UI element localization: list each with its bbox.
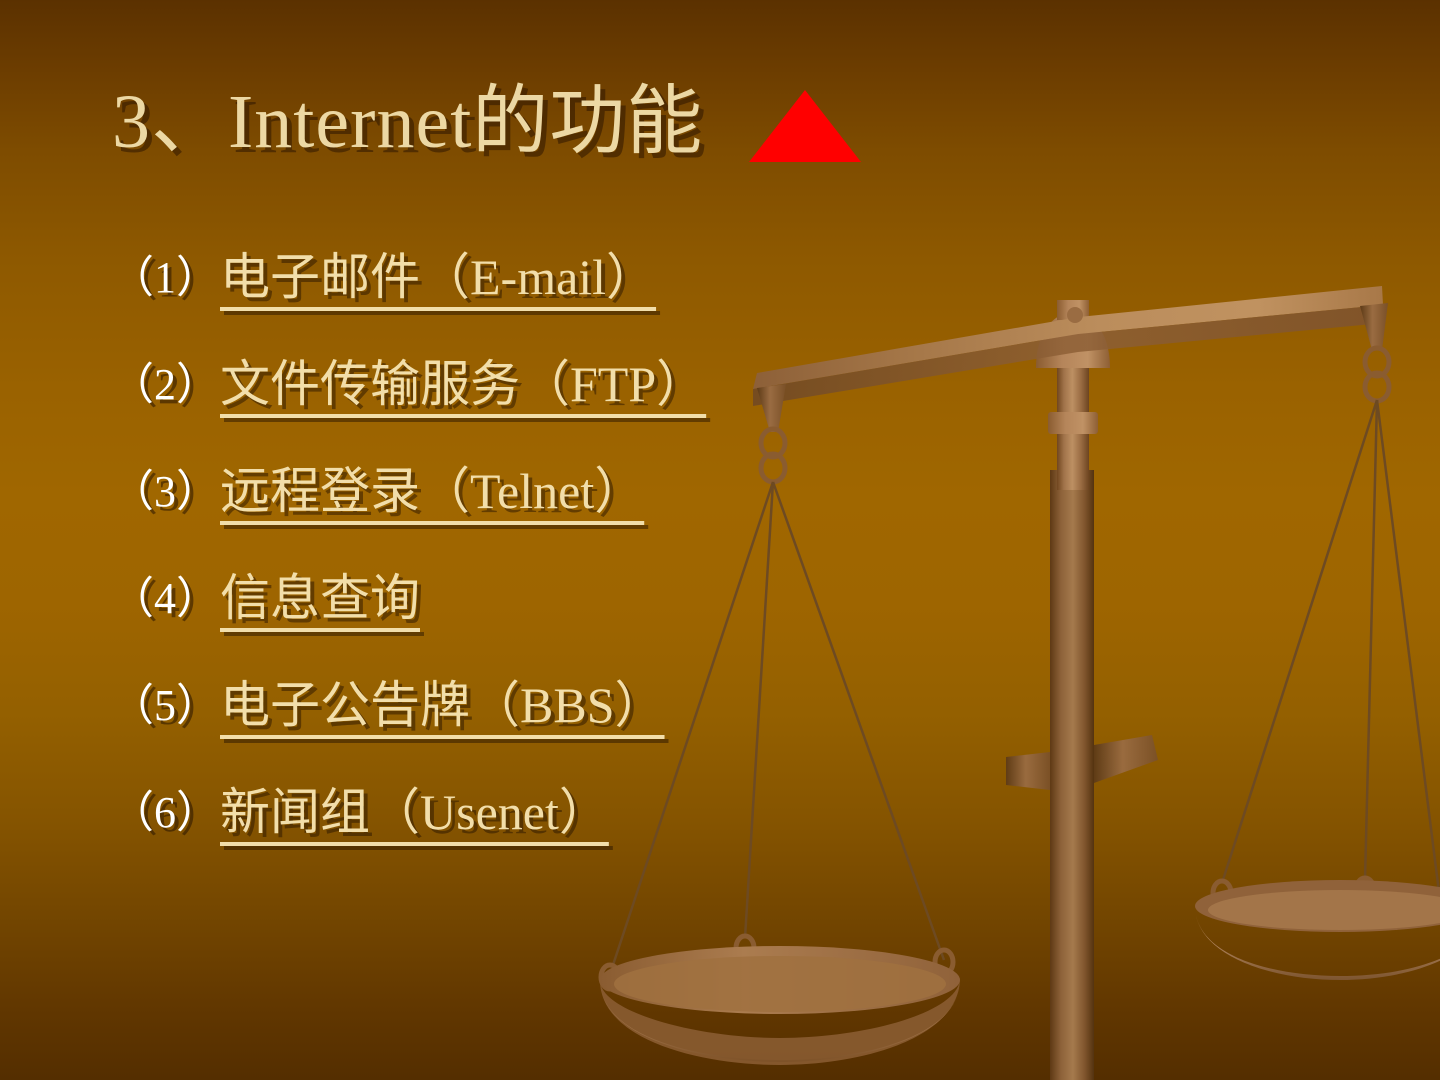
slide-canvas: 3、Internet的功能 （1） 电子邮件（E-mail） （2） 文件传输服… — [0, 0, 1440, 1080]
bullet-index: （2） — [110, 359, 220, 407]
list-item[interactable]: （5） 电子公告牌（BBS） — [110, 680, 1010, 787]
bullet-list: （1） 电子邮件（E-mail） （2） 文件传输服务（FTP） （3） 远程登… — [110, 252, 1010, 894]
bullet-link-telnet[interactable]: 远程登录（Telnet） — [220, 466, 644, 516]
bullet-link-ftp[interactable]: 文件传输服务（FTP） — [220, 359, 706, 409]
bullet-index: （5） — [110, 680, 220, 728]
list-item[interactable]: （3） 远程登录（Telnet） — [110, 466, 1010, 573]
page-title: 3、Internet的功能 — [112, 84, 861, 162]
bullet-index: （6） — [110, 787, 220, 835]
bullet-link-email[interactable]: 电子邮件（E-mail） — [220, 252, 656, 302]
bullet-link-bbs[interactable]: 电子公告牌（BBS） — [220, 680, 665, 730]
list-item[interactable]: （2） 文件传输服务（FTP） — [110, 359, 1010, 466]
bullet-link-info-query[interactable]: 信息查询 — [220, 573, 420, 623]
red-triangle-up-icon — [749, 90, 861, 162]
title-label: 3、Internet的功能 — [112, 84, 703, 162]
list-item[interactable]: （1） 电子邮件（E-mail） — [110, 252, 1010, 359]
bullet-index: （3） — [110, 466, 220, 514]
bullet-link-usenet[interactable]: 新闻组（Usenet） — [220, 787, 609, 837]
list-item[interactable]: （6） 新闻组（Usenet） — [110, 787, 1010, 894]
list-item[interactable]: （4） 信息查询 — [110, 573, 1010, 680]
bullet-index: （1） — [110, 252, 220, 300]
bullet-index: （4） — [110, 573, 220, 621]
